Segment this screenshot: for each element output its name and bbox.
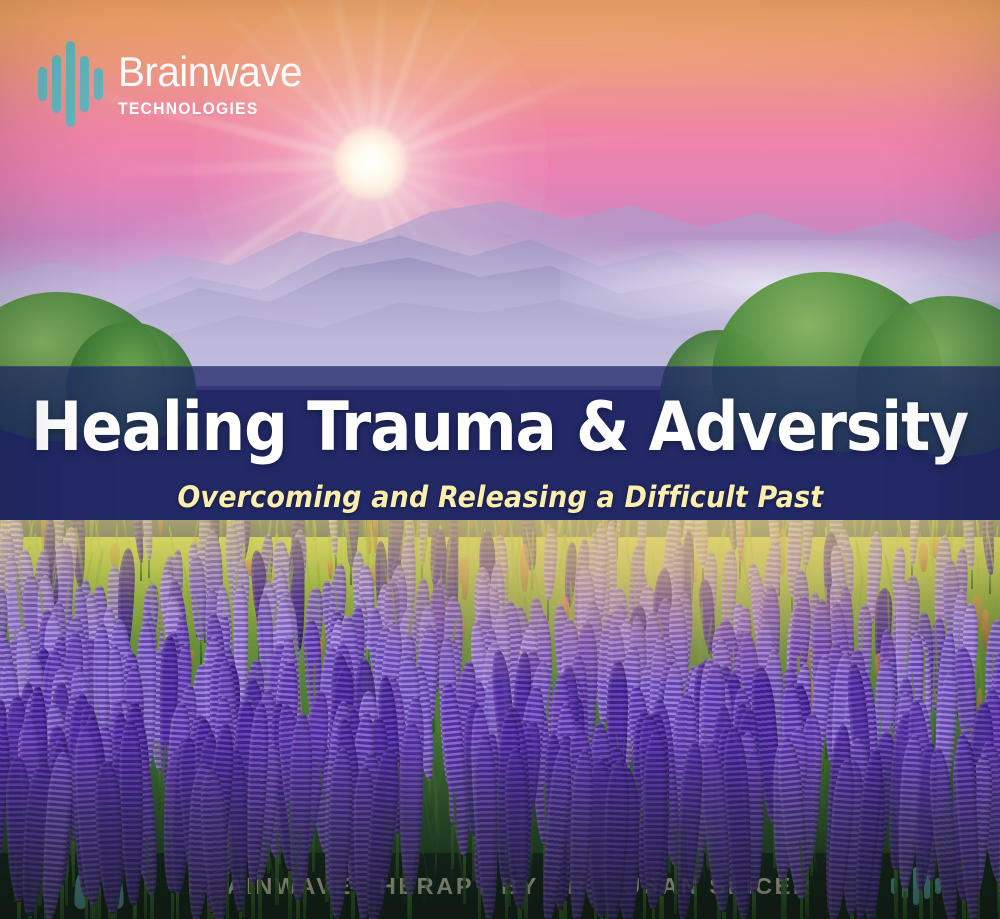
brand-logo[interactable]: Brainwave TECHNOLOGIES [36,38,310,130]
page-subtitle: Overcoming and Releasing a Difficult Pas… [177,480,823,514]
sun-icon [334,126,408,200]
brand-name: Brainwave [118,51,302,93]
page-title: Healing Trauma & Adversity [31,394,968,462]
brand-tagline: TECHNOLOGIES [118,100,294,117]
brand-text-group: Brainwave TECHNOLOGIES [118,51,310,117]
meadow-shadow [0,739,1000,919]
waveform-icon [36,38,104,130]
meadow-sun-glow [0,520,1000,640]
lupine-meadow [0,520,1000,919]
album-cover: Brainwave TECHNOLOGIES Healing Trauma & … [0,0,1000,919]
title-band: Healing Trauma & Adversity Overcoming an… [0,366,1000,537]
